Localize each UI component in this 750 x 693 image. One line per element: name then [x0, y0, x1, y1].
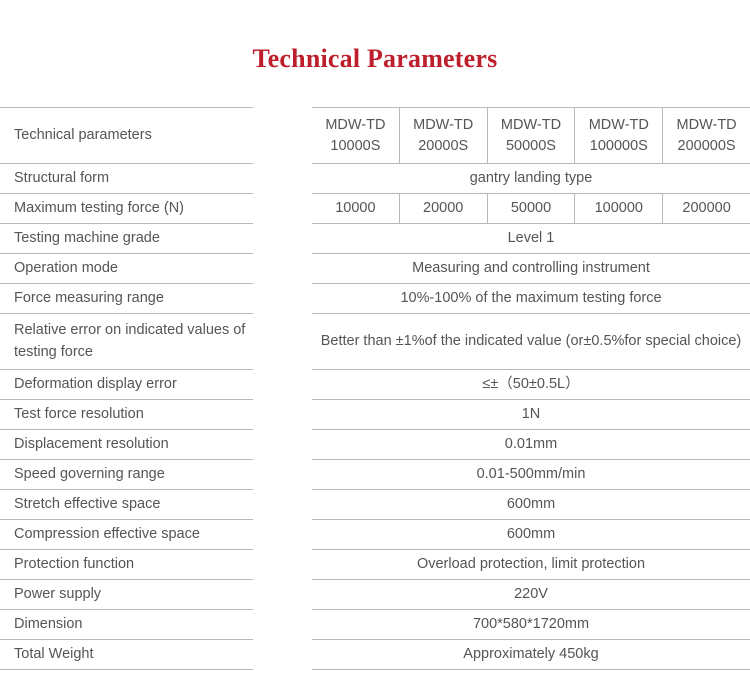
table-gutter [253, 108, 312, 164]
model-header-cell: MDW-TD 200000S [663, 108, 750, 163]
table-row: Operation mode Measuring and controlling… [0, 254, 750, 284]
row-label: Protection function [0, 550, 253, 580]
row-value: 10%-100% of the maximum testing force [312, 284, 750, 314]
table-row: Speed governing range 0.01-500mm/min [0, 460, 750, 490]
row-value: 50000 [488, 194, 576, 223]
table-row: Force measuring range 10%-100% of the ma… [0, 284, 750, 314]
row-label: Test force resolution [0, 400, 253, 430]
table-gutter [253, 550, 312, 580]
table-row: Dimension 700*580*1720mm [0, 610, 750, 640]
row-value: ≤±（50±0.5L） [312, 370, 750, 400]
row-value: 100000 [575, 194, 663, 223]
table-row: Structural form gantry landing type [0, 164, 750, 194]
model-name-line1: MDW-TD [325, 115, 385, 135]
table-gutter [253, 370, 312, 400]
table-row: Total Weight Approximately 450kg [0, 640, 750, 670]
table-gutter [253, 430, 312, 460]
row-value: 1N [312, 400, 750, 430]
table-row: Maximum testing force (N) 10000 20000 50… [0, 194, 750, 224]
row-label: Displacement resolution [0, 430, 253, 460]
row-value: Measuring and controlling instrument [312, 254, 750, 284]
table-row: Stretch effective space 600mm [0, 490, 750, 520]
model-header-cell: MDW-TD 20000S [400, 108, 488, 163]
model-name-line2: 10000S [330, 136, 380, 156]
table-gutter [253, 490, 312, 520]
table-gutter [253, 520, 312, 550]
row-value: Level 1 [312, 224, 750, 254]
row-label: Maximum testing force (N) [0, 194, 253, 224]
table-row: Displacement resolution 0.01mm [0, 430, 750, 460]
table-header-row: Technical parameters MDW-TD 10000S MDW-T… [0, 108, 750, 164]
technical-parameters-table: Technical parameters MDW-TD 10000S MDW-T… [0, 107, 750, 670]
row-value: 0.01mm [312, 430, 750, 460]
row-value: 200000 [663, 194, 750, 223]
table-row: Testing machine grade Level 1 [0, 224, 750, 254]
row-value: gantry landing type [312, 164, 750, 194]
row-label: Speed governing range [0, 460, 253, 490]
row-value: 600mm [312, 490, 750, 520]
row-label: Testing machine grade [0, 224, 253, 254]
row-label: Power supply [0, 580, 253, 610]
page-title: Technical Parameters [0, 44, 750, 74]
model-name-line1: MDW-TD [677, 115, 737, 135]
model-name-line1: MDW-TD [589, 115, 649, 135]
table-row: Test force resolution 1N [0, 400, 750, 430]
model-name-line2: 200000S [678, 136, 736, 156]
model-header-cell: MDW-TD 50000S [488, 108, 576, 163]
model-name-line2: 100000S [590, 136, 648, 156]
row-label: Relative error on indicated values of te… [0, 314, 253, 370]
row-value: Approximately 450kg [312, 640, 750, 670]
table-row: Power supply 220V [0, 580, 750, 610]
table-row: Deformation display error ≤±（50±0.5L） [0, 370, 750, 400]
label-column-header: Technical parameters [0, 108, 253, 164]
table-gutter [253, 400, 312, 430]
row-value: 600mm [312, 520, 750, 550]
page-root: Technical Parameters Technical parameter… [0, 0, 750, 693]
table-gutter [253, 254, 312, 284]
table-row: Compression effective space 600mm [0, 520, 750, 550]
model-name-line2: 50000S [506, 136, 556, 156]
table-gutter [253, 284, 312, 314]
table-gutter [253, 164, 312, 194]
table-gutter [253, 640, 312, 670]
row-label: Structural form [0, 164, 253, 194]
row-value: Overload protection, limit protection [312, 550, 750, 580]
model-header-cell: MDW-TD 100000S [575, 108, 663, 163]
row-value-cells: 10000 20000 50000 100000 200000 [312, 194, 750, 224]
row-label: Dimension [0, 610, 253, 640]
row-value: 0.01-500mm/min [312, 460, 750, 490]
table-row: Relative error on indicated values of te… [0, 314, 750, 370]
row-label: Operation mode [0, 254, 253, 284]
model-name-line1: MDW-TD [501, 115, 561, 135]
row-label: Deformation display error [0, 370, 253, 400]
model-header-cells: MDW-TD 10000S MDW-TD 20000S MDW-TD 50000… [312, 108, 750, 164]
row-value: 700*580*1720mm [312, 610, 750, 640]
model-name-line1: MDW-TD [413, 115, 473, 135]
table-row: Protection function Overload protection,… [0, 550, 750, 580]
table-gutter [253, 224, 312, 254]
row-value: 220V [312, 580, 750, 610]
row-label: Compression effective space [0, 520, 253, 550]
row-value: 20000 [400, 194, 488, 223]
row-label: Stretch effective space [0, 490, 253, 520]
table-gutter [253, 610, 312, 640]
table-gutter [253, 194, 312, 224]
model-name-line2: 20000S [418, 136, 468, 156]
row-label: Total Weight [0, 640, 253, 670]
table-gutter [253, 580, 312, 610]
model-header-cell: MDW-TD 10000S [312, 108, 400, 163]
row-value: Better than ±1%of the indicated value (o… [312, 314, 750, 370]
row-value: 10000 [312, 194, 400, 223]
table-gutter [253, 460, 312, 490]
row-label: Force measuring range [0, 284, 253, 314]
table-gutter [253, 314, 312, 370]
